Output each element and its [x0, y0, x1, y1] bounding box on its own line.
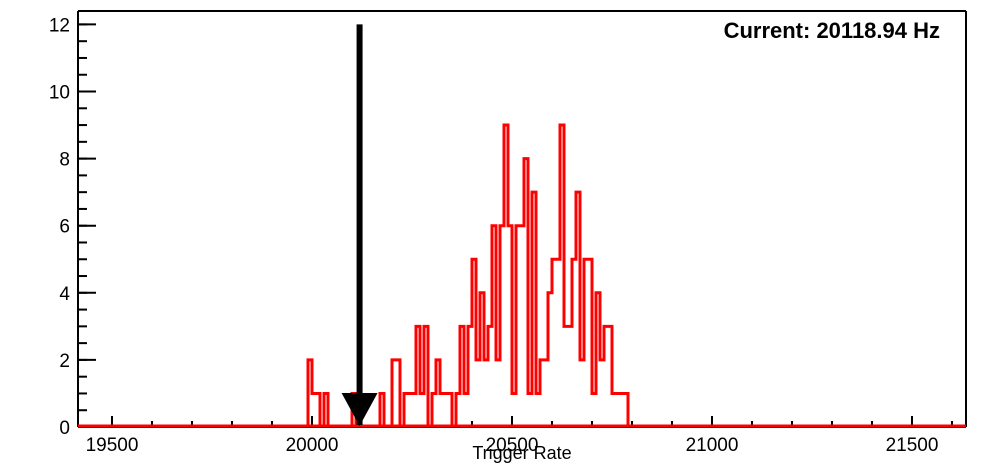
x-tick-label: 21000: [686, 435, 739, 456]
y-tick-label: 6: [59, 217, 70, 238]
x-tick-label: 20000: [286, 435, 339, 456]
x-axis-title: Trigger Rate: [472, 443, 571, 463]
x-tick-label: 21500: [886, 435, 939, 456]
histogram-canvas: 1950020000205002100021500 024681012 Trig…: [0, 0, 996, 472]
canvas-background: [0, 0, 996, 472]
y-tick-label: 10: [49, 83, 70, 104]
x-tick-label: 19500: [86, 435, 139, 456]
y-tick-label: 0: [59, 418, 70, 439]
y-tick-label: 8: [59, 150, 70, 171]
trigger-rate-histogram: 1950020000205002100021500 024681012 Trig…: [0, 0, 996, 472]
y-tick-label: 12: [49, 15, 70, 36]
current-rate-label: Current: 20118.94 Hz: [724, 18, 940, 43]
y-tick-label: 2: [59, 351, 70, 372]
y-tick-label: 4: [59, 284, 70, 305]
